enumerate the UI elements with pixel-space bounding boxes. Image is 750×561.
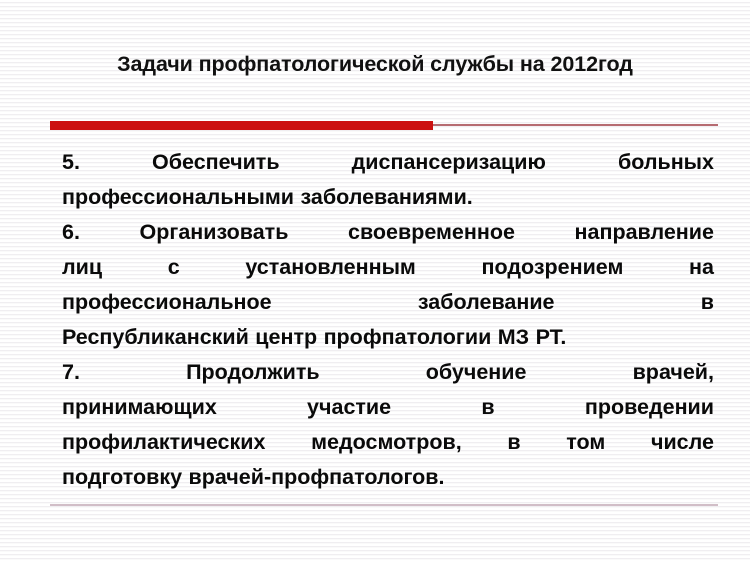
body-text-line: 6.Организоватьсвоевременноенаправление xyxy=(62,215,714,250)
body-word: профессиональными xyxy=(62,180,294,215)
body-word: профессиональное xyxy=(62,285,272,320)
body-word: 7. xyxy=(62,355,80,390)
body-word: числе xyxy=(651,425,714,460)
body-word: на xyxy=(689,250,714,285)
body-word: том xyxy=(566,425,605,460)
body-word: проведении xyxy=(585,390,714,425)
body-text-line: 5.Обеспечитьдиспансеризациюбольных xyxy=(62,145,714,180)
body-text-line: РеспубликанскийцентрпрофпатологииМЗРТ. xyxy=(62,320,714,355)
body-word: МЗ xyxy=(498,320,529,355)
body-word: Республиканский xyxy=(62,320,249,355)
body-word: Обеспечить xyxy=(152,145,280,180)
body-text-line: принимающихучастиевпроведении xyxy=(62,390,714,425)
body-word: профпатологии xyxy=(324,320,492,355)
body-word: обучение xyxy=(426,355,527,390)
body-text-line: 7.Продолжитьобучениеврачей, xyxy=(62,355,714,390)
body-word: заболевание xyxy=(418,285,555,320)
slide-title-block: Задачи профпатологической службы на 2012… xyxy=(0,52,750,77)
body-text-line: профилактическихмедосмотров,втомчисле xyxy=(62,425,714,460)
body-word: в xyxy=(481,390,494,425)
bottom-divider xyxy=(50,504,718,506)
body-word: заболеваниями. xyxy=(300,180,472,215)
body-word: центр xyxy=(255,320,317,355)
body-word: Продолжить xyxy=(186,355,320,390)
title-accent-rule xyxy=(50,121,718,130)
body-word: врачей-профпатологов. xyxy=(189,460,445,495)
body-word: 6. xyxy=(62,215,80,250)
body-text-line: лицсустановленнымподозрениемна xyxy=(62,250,714,285)
body-word: лиц xyxy=(62,250,102,285)
presentation-slide: Задачи профпатологической службы на 2012… xyxy=(0,0,750,561)
page-title: Задачи профпатологической службы на 2012… xyxy=(117,52,633,77)
body-word: своевременное xyxy=(348,215,515,250)
body-word: РТ. xyxy=(536,320,567,355)
body-word: подозрением xyxy=(481,250,623,285)
body-word: профилактических xyxy=(62,425,265,460)
body-word: в xyxy=(701,285,714,320)
body-text-line: подготовкуврачей-профпатологов. xyxy=(62,460,714,495)
body-word: направление xyxy=(575,215,714,250)
slide-body-text: 5.Обеспечитьдиспансеризациюбольныхпрофес… xyxy=(62,145,714,495)
accent-thick-bar xyxy=(50,121,433,130)
body-word: участие xyxy=(307,390,391,425)
body-word: Организовать xyxy=(140,215,289,250)
body-word: 5. xyxy=(62,145,80,180)
body-word: врачей, xyxy=(633,355,714,390)
body-text-line: профессиональноезаболеваниев xyxy=(62,285,714,320)
body-word: принимающих xyxy=(62,390,217,425)
body-word: подготовку xyxy=(62,460,182,495)
body-word: в xyxy=(507,425,520,460)
body-word: с xyxy=(168,250,180,285)
body-word: медосмотров, xyxy=(311,425,462,460)
body-text-line: профессиональнымизаболеваниями. xyxy=(62,180,714,215)
body-word: установленным xyxy=(245,250,416,285)
body-word: больных xyxy=(618,145,714,180)
body-word: диспансеризацию xyxy=(352,145,546,180)
